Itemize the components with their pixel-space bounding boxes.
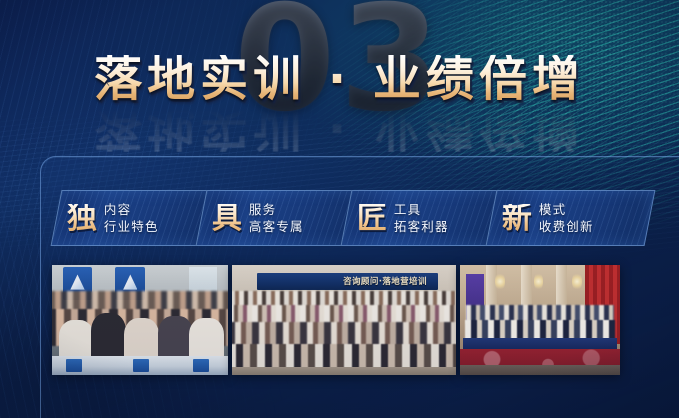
feature-badge-3-line1: 工具 [394, 202, 449, 218]
event-photo-2[interactable]: 咨询顾问·落地营培训 [232, 265, 456, 375]
feature-badge-2-text: 服务 高客专属 [249, 202, 304, 235]
feature-badge-1[interactable]: 独 内容 行业特色 [51, 190, 221, 246]
feature-badge-4-line2: 收费创新 [539, 219, 594, 235]
feature-badge-4-char: 新 [502, 203, 532, 233]
feature-badge-2-line2: 高客专属 [249, 219, 304, 235]
feature-badge-1-line1: 内容 [104, 202, 159, 218]
event-photo-3[interactable] [460, 265, 620, 375]
feature-badge-3-line2: 拓客利器 [394, 219, 449, 235]
feature-badge-1-char: 独 [67, 203, 97, 233]
feature-badge-2-line1: 服务 [249, 202, 304, 218]
feature-badge-2-char: 具 [212, 203, 242, 233]
feature-badge-row: 独 内容 行业特色 具 服务 高客专属 匠 工具 拓客利器 [56, 190, 656, 244]
event-photo-1-overlay [52, 265, 228, 375]
event-photo-2-overlay [232, 265, 456, 375]
feature-badge-1-line2: 行业特色 [104, 219, 159, 235]
poster-canvas: 03 03 落地实训 · 业绩倍增 落地实训 · 业绩倍增 独 内容 行业特色 … [0, 0, 679, 418]
feature-badge-3-char: 匠 [357, 203, 387, 233]
main-title: 落地实训 · 业绩倍增 [94, 55, 585, 103]
event-photo-row: 咨询顾问·落地营培训 [52, 265, 627, 375]
event-photo-3-overlay [460, 265, 620, 375]
main-title-container: 落地实训 · 业绩倍增 [0, 55, 679, 103]
feature-badge-1-text: 内容 行业特色 [104, 202, 159, 235]
feature-badge-4-text: 模式 收费创新 [539, 202, 594, 235]
feature-badge-3-text: 工具 拓客利器 [394, 202, 449, 235]
feature-badge-4-line1: 模式 [539, 202, 594, 218]
feature-badge-3[interactable]: 匠 工具 拓客利器 [341, 190, 511, 246]
event-photo-1[interactable] [52, 265, 228, 375]
feature-badge-2[interactable]: 具 服务 高客专属 [196, 190, 366, 246]
feature-badge-4[interactable]: 新 模式 收费创新 [486, 190, 656, 246]
